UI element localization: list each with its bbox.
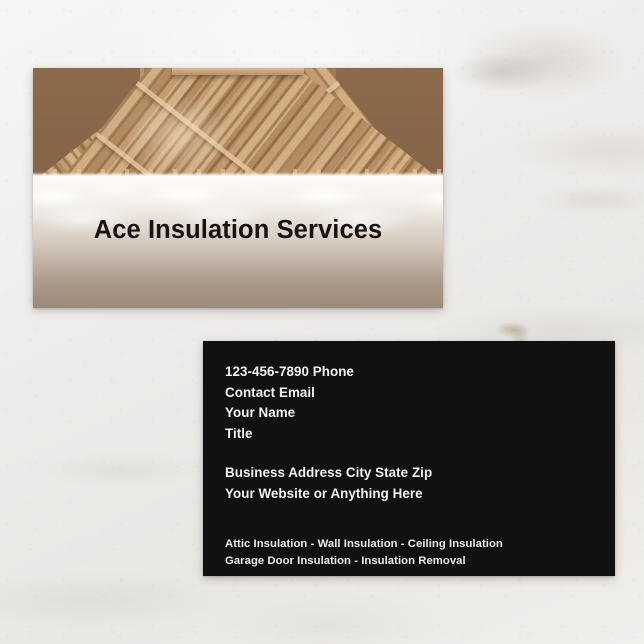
street-address-line: Business Address City State Zip — [225, 463, 601, 484]
services-line-1: Attic Insulation - Wall Insulation - Cei… — [225, 536, 601, 553]
services-block: Attic Insulation - Wall Insulation - Cei… — [225, 536, 601, 569]
services-line-2: Garage Door Insulation - Insulation Remo… — [225, 553, 601, 570]
title-line: Title — [225, 424, 601, 445]
card-mockup-scene: Ace Insulation Services 123-456-7890 Pho… — [0, 0, 644, 644]
back-card-content: 123-456-7890 Phone Contact Email Your Na… — [225, 362, 601, 569]
ridge-beam — [172, 68, 303, 75]
phone-line: 123-456-7890 Phone — [225, 362, 601, 383]
attic-insulation-photo — [33, 68, 443, 308]
business-card-back[interactable]: 123-456-7890 Phone Contact Email Your Na… — [203, 341, 615, 576]
website-line: Your Website or Anything Here — [225, 484, 601, 505]
business-card-front[interactable]: Ace Insulation Services — [33, 68, 443, 308]
company-name-title: Ace Insulation Services — [33, 216, 443, 245]
address-block: Business Address City State Zip Your Web… — [225, 463, 601, 504]
email-line: Contact Email — [225, 383, 601, 404]
contact-block: 123-456-7890 Phone Contact Email Your Na… — [225, 362, 601, 444]
name-line: Your Name — [225, 403, 601, 424]
